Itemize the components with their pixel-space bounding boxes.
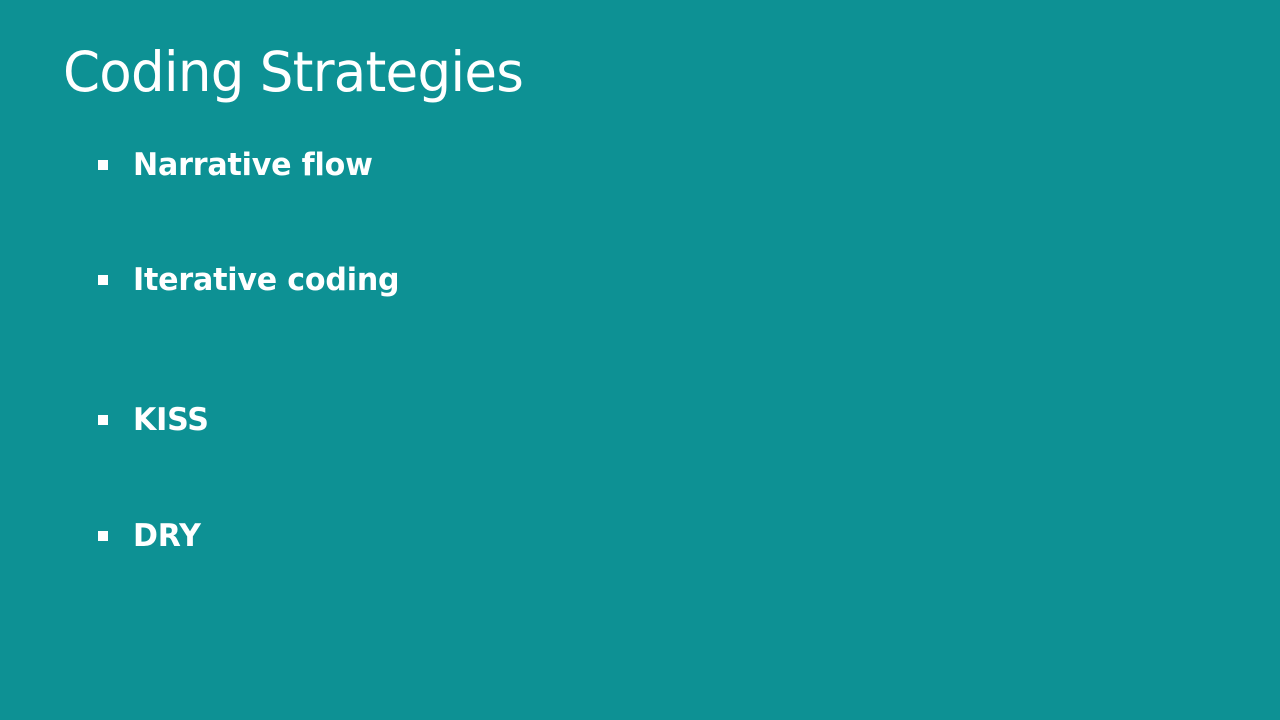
square-bullet-icon	[98, 531, 108, 541]
square-bullet-icon	[98, 275, 108, 285]
list-item-label: Iterative coding	[133, 264, 399, 296]
list-item-label: KISS	[133, 404, 209, 436]
list-item[interactable]: KISS	[98, 404, 211, 436]
list-item[interactable]: Iterative coding	[98, 264, 408, 296]
list-item[interactable]: DRY	[98, 520, 203, 552]
presentation-slide: Coding Strategies Narrative flow Iterati…	[0, 0, 1280, 720]
list-item-label: Narrative flow	[133, 149, 373, 181]
list-item-label: DRY	[133, 520, 201, 552]
square-bullet-icon	[98, 415, 108, 425]
square-bullet-icon	[98, 160, 108, 170]
list-item[interactable]: Narrative flow	[98, 149, 380, 181]
bullet-list: Narrative flow Iterative coding KISS DRY	[0, 0, 1280, 720]
